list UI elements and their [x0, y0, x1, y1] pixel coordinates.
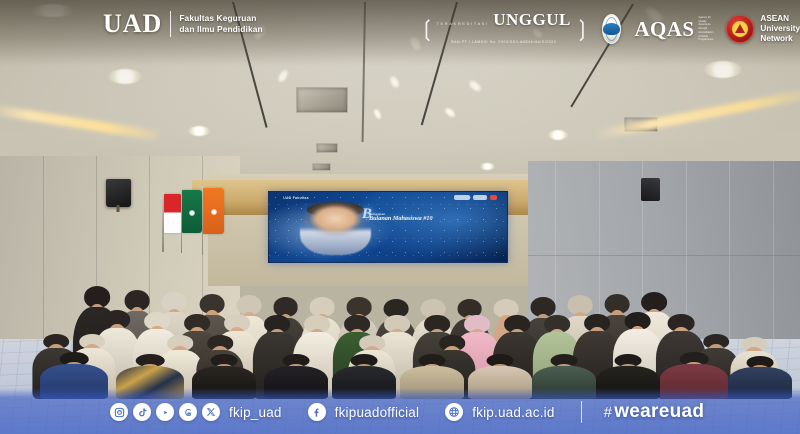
uad-wordmark: UAD [103, 11, 162, 37]
unggul-logo: ❲ TERAKREDITASI UNGGUL BAN-PT / LAMDIK N… [418, 11, 589, 48]
screenshot-root: UAD Fakultas B Pengajian Bulanan Mahasis… [0, 0, 800, 434]
hashtag-text: weareuad [614, 401, 704, 422]
bottom-divider [581, 401, 582, 423]
unggul-top-text: TERAKREDITASI [436, 21, 488, 26]
wall-speaker-left [106, 179, 132, 207]
unggul-bottom-text: BAN-PT / LAMDIK No. 0000/SK/LAMDIK/Ak/S/… [451, 40, 556, 44]
asean-emblem-icon [726, 15, 754, 43]
aqas-fine-print: Agency for Quality Assurance through Acc… [698, 16, 713, 42]
screen-sponsor-logos [454, 195, 497, 200]
aqas-logo: AQAS Agency for Quality Assurance throug… [634, 16, 713, 42]
x-twitter-icon[interactable] [202, 403, 220, 421]
aqas-wordmark: AQAS [634, 19, 694, 40]
asean-line1: ASEAN [760, 14, 800, 24]
asean-line2: University [760, 24, 800, 34]
seal-ring-icon [605, 17, 618, 41]
globe-icon[interactable] [445, 403, 463, 421]
screen-kicker: Pengajian [369, 213, 502, 216]
bottom-social-bar: fkip_uad fkipuadofficial fkip.uad.ac.id [0, 390, 800, 434]
accreditation-logo-row: ❲ TERAKREDITASI UNGGUL BAN-PT / LAMDIK N… [418, 8, 800, 50]
facebook-handle-group[interactable]: fkipuadofficial [308, 403, 420, 421]
website-group[interactable]: fkip.uad.ac.id [445, 403, 554, 421]
screen-logo-left: UAD Fakultas [283, 196, 309, 200]
logo-divider [170, 11, 171, 37]
group-photo-crowd [0, 217, 800, 399]
campaign-hashtag: #weareuad [604, 401, 705, 423]
laurel-right-icon: ❳ [573, 18, 589, 40]
website-url[interactable]: fkip.uad.ac.id [472, 405, 554, 420]
threads-icon[interactable] [179, 403, 197, 421]
social-handle-fkip-uad[interactable]: fkip_uad [229, 405, 282, 420]
instagram-icon[interactable] [110, 403, 128, 421]
lamdik-seal-logo [602, 14, 621, 44]
social-handle-facebook[interactable]: fkipuadofficial [335, 405, 420, 420]
tiktok-icon[interactable] [133, 403, 151, 421]
asean-line3: Network [760, 34, 800, 44]
asean-university-network-logo: ASEAN University Network [726, 14, 800, 45]
unggul-main-text: UNGGUL [493, 10, 571, 29]
social-handles-group[interactable]: fkip_uad [110, 403, 282, 421]
uad-fkip-logo: UAD Fakultas Keguruan dan Ilmu Pendidika… [103, 11, 263, 37]
wall-speaker-right [641, 178, 660, 201]
youtube-icon[interactable] [156, 403, 174, 421]
laurel-left-icon: ❲ [418, 18, 434, 40]
faculty-name: Fakultas Keguruan dan Ilmu Pendidikan [179, 13, 262, 36]
faculty-name-line2: dan Ilmu Pendidikan [179, 24, 262, 35]
facebook-icon[interactable] [308, 403, 326, 421]
asean-rice-stalk-icon [732, 21, 748, 37]
faculty-name-line1: Fakultas Keguruan [179, 13, 262, 24]
hash-symbol: # [604, 404, 613, 421]
event-photograph: UAD Fakultas B Pengajian Bulanan Mahasis… [0, 0, 800, 434]
top-branding-bar: UAD Fakultas Keguruan dan Ilmu Pendidika… [0, 0, 800, 56]
